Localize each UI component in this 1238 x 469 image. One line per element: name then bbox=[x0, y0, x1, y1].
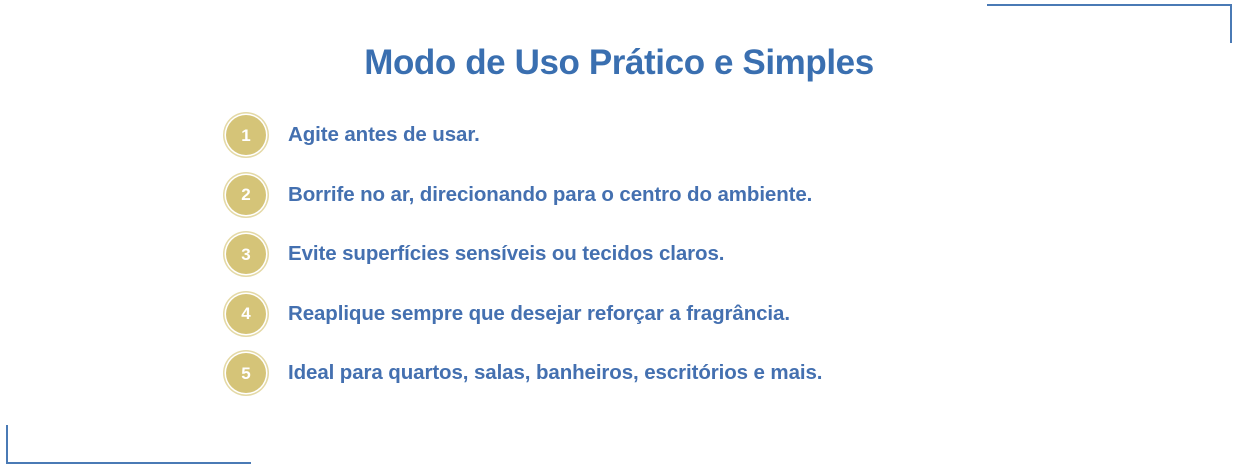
step-number-badge: 4 bbox=[226, 294, 266, 334]
list-item: 5 Ideal para quartos, salas, banheiros, … bbox=[226, 351, 822, 395]
page-title: Modo de Uso Prático e Simples bbox=[0, 44, 1238, 83]
corner-bracket-top-right-vertical bbox=[1230, 4, 1232, 43]
step-text: Evite superfícies sensíveis ou tecidos c… bbox=[288, 242, 724, 266]
step-number-badge: 1 bbox=[226, 115, 266, 155]
steps-list: 1 Agite antes de usar. 2 Borrife no ar, … bbox=[226, 113, 822, 411]
list-item: 3 Evite superfícies sensíveis ou tecidos… bbox=[226, 232, 822, 276]
step-text: Reaplique sempre que desejar reforçar a … bbox=[288, 302, 790, 326]
step-text: Agite antes de usar. bbox=[288, 123, 480, 147]
step-number-badge: 2 bbox=[226, 175, 266, 215]
corner-bracket-top-right-horizontal bbox=[987, 4, 1232, 6]
step-number-badge: 3 bbox=[226, 234, 266, 274]
step-number-label: 4 bbox=[241, 305, 250, 322]
step-number-label: 2 bbox=[241, 186, 250, 203]
step-number-label: 5 bbox=[241, 365, 250, 382]
step-text: Borrife no ar, direcionando para o centr… bbox=[288, 183, 812, 207]
step-text: Ideal para quartos, salas, banheiros, es… bbox=[288, 361, 822, 385]
list-item: 4 Reaplique sempre que desejar reforçar … bbox=[226, 292, 822, 336]
corner-bracket-bottom-left-vertical bbox=[6, 425, 8, 464]
step-number-label: 1 bbox=[241, 127, 250, 144]
step-number-badge: 5 bbox=[226, 353, 266, 393]
slide-canvas: Modo de Uso Prático e Simples 1 Agite an… bbox=[0, 0, 1238, 469]
list-item: 1 Agite antes de usar. bbox=[226, 113, 822, 157]
step-number-label: 3 bbox=[241, 246, 250, 263]
list-item: 2 Borrife no ar, direcionando para o cen… bbox=[226, 173, 822, 217]
corner-bracket-bottom-left-horizontal bbox=[6, 462, 251, 464]
